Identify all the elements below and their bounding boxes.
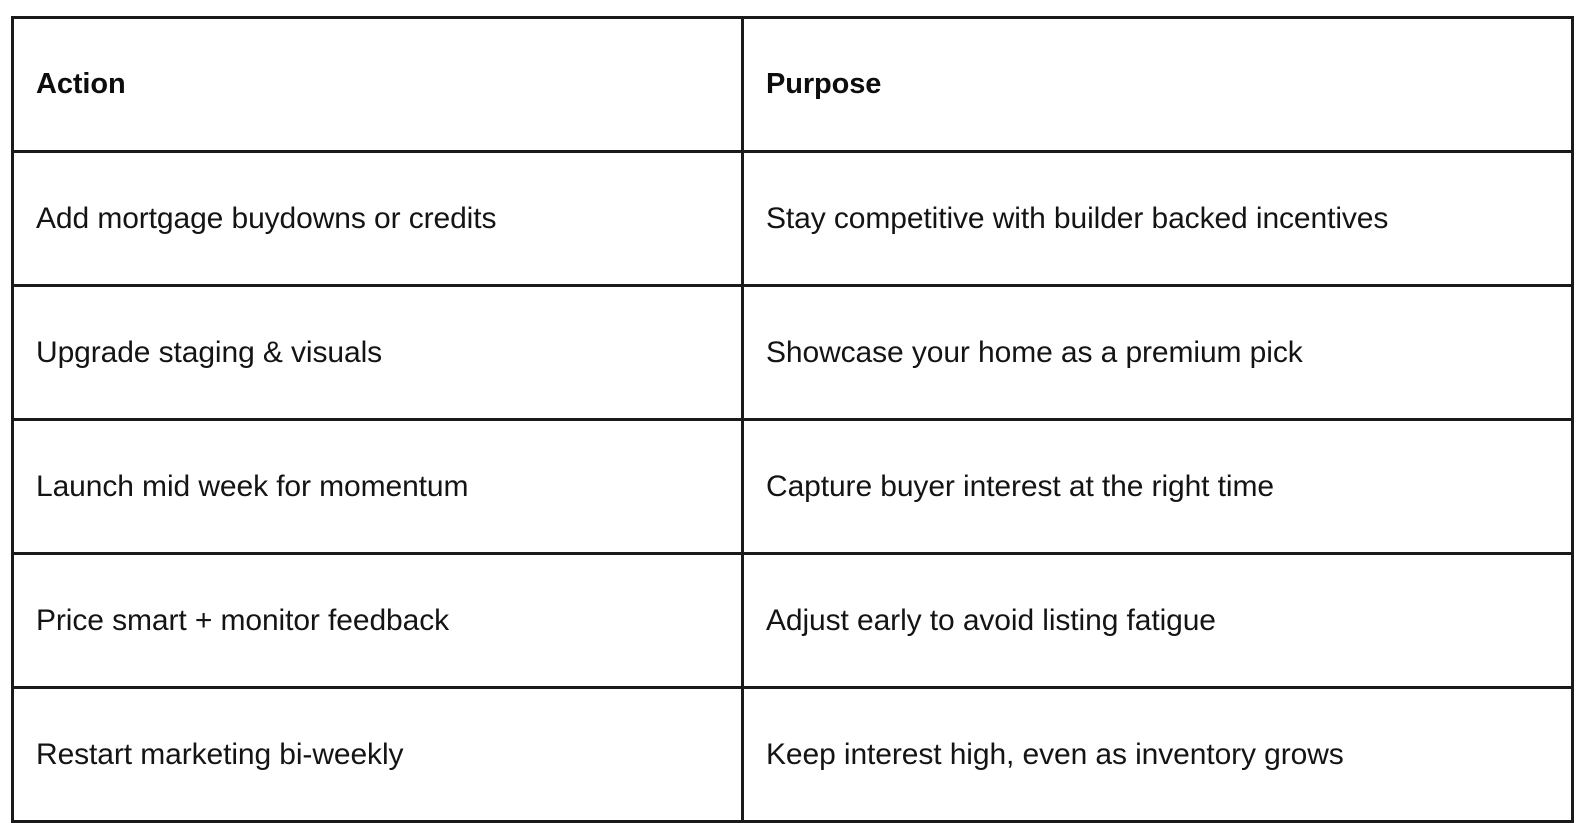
action-purpose-table: Action Purpose Add mortgage buydowns or … (11, 16, 1574, 823)
table-container: Action Purpose Add mortgage buydowns or … (11, 16, 1571, 802)
table-row: Launch mid week for momentum Capture buy… (13, 420, 1573, 554)
table-row: Restart marketing bi-weekly Keep interes… (13, 688, 1573, 822)
table-body: Add mortgage buydowns or credits Stay co… (13, 152, 1573, 822)
table-header-row: Action Purpose (13, 18, 1573, 152)
column-header-purpose: Purpose (743, 18, 1573, 152)
cell-purpose: Showcase your home as a premium pick (743, 286, 1573, 420)
cell-purpose: Adjust early to avoid listing fatigue (743, 554, 1573, 688)
table-row: Upgrade staging & visuals Showcase your … (13, 286, 1573, 420)
cell-action: Restart marketing bi-weekly (13, 688, 743, 822)
cell-action: Launch mid week for momentum (13, 420, 743, 554)
table-row: Price smart + monitor feedback Adjust ea… (13, 554, 1573, 688)
cell-action: Price smart + monitor feedback (13, 554, 743, 688)
cell-action: Add mortgage buydowns or credits (13, 152, 743, 286)
cell-action: Upgrade staging & visuals (13, 286, 743, 420)
cell-purpose: Capture buyer interest at the right time (743, 420, 1573, 554)
cell-purpose: Keep interest high, even as inventory gr… (743, 688, 1573, 822)
page-root: Action Purpose Add mortgage buydowns or … (0, 0, 1584, 819)
table-header: Action Purpose (13, 18, 1573, 152)
table-row: Add mortgage buydowns or credits Stay co… (13, 152, 1573, 286)
cell-purpose: Stay competitive with builder backed inc… (743, 152, 1573, 286)
column-header-action: Action (13, 18, 743, 152)
